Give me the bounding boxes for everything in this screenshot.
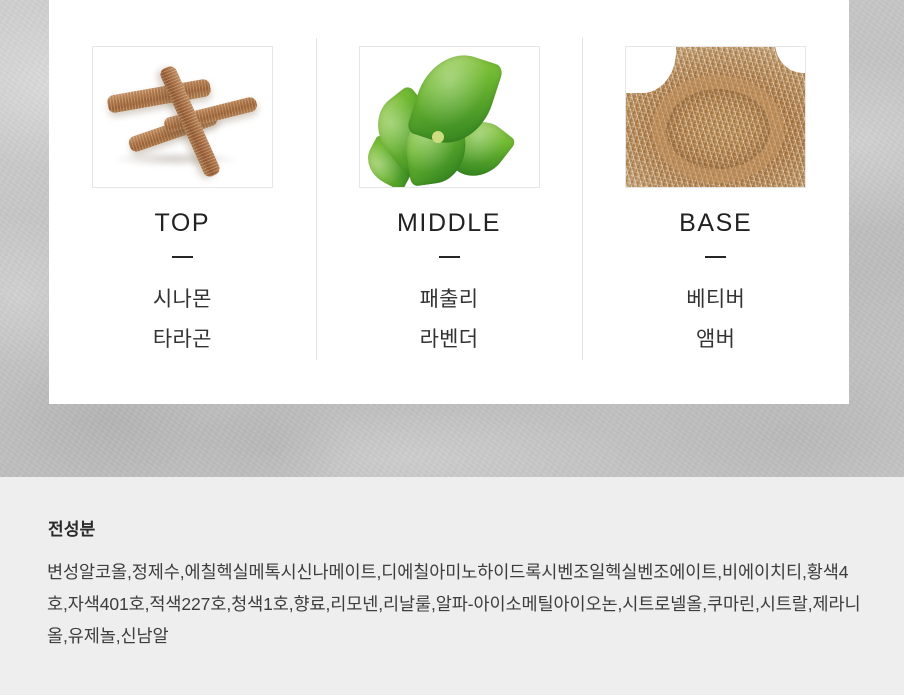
cinnamon-illustration [93, 47, 272, 187]
fragrance-note-middle: MIDDLE 패출리 라벤더 [316, 0, 583, 404]
note-item: 라벤더 [420, 320, 479, 360]
cinnamon-sticks-photo [92, 46, 273, 188]
patchouli-illustration [360, 47, 539, 187]
note-divider-dash [172, 256, 193, 258]
note-title-base: BASE [679, 211, 752, 236]
product-detail-page: TOP 시나몬 타라곤 [0, 0, 904, 695]
patchouli-stem [432, 131, 444, 143]
note-item: 베티버 [686, 280, 745, 320]
ingredients-text: 변성알코올,정제수,에칠헥실메톡시신나메이트,디에칠아미노하이드록시벤조일헥실벤… [47, 556, 862, 652]
note-item: 시나몬 [153, 280, 212, 320]
note-divider-dash [439, 256, 460, 258]
fragrance-notes-panel: TOP 시나몬 타라곤 [49, 0, 849, 404]
note-item: 타라곤 [153, 320, 212, 360]
note-title-top: TOP [154, 211, 210, 236]
note-item-list-top: 시나몬 타라곤 [153, 280, 212, 360]
note-item-list-middle: 패출리 라벤더 [420, 280, 479, 360]
ingredients-heading: 전성분 [48, 515, 96, 540]
fragrance-note-base: BASE 베티버 앰버 [582, 0, 849, 404]
note-divider-dash [705, 256, 726, 258]
note-item: 패출리 [420, 280, 479, 320]
cinnamon-stick [106, 78, 212, 114]
note-item-list-base: 베티버 앰버 [686, 280, 745, 360]
vetiver-illustration [626, 47, 805, 187]
fragrance-note-top: TOP 시나몬 타라곤 [49, 0, 316, 404]
vetiver-swirl [652, 75, 784, 183]
note-item: 앰버 [686, 320, 745, 360]
note-title-middle: MIDDLE [397, 211, 501, 236]
fragrance-notes-row: TOP 시나몬 타라곤 [49, 0, 849, 404]
patchouli-leaves-photo [359, 46, 540, 188]
ingredients-section: 전성분 변성알코올,정제수,에칠헥실메톡시신나메이트,디에칠아미노하이드록시벤조… [0, 477, 904, 695]
vetiver-roots-photo [625, 46, 806, 188]
cinnamon-shadow [111, 151, 239, 167]
